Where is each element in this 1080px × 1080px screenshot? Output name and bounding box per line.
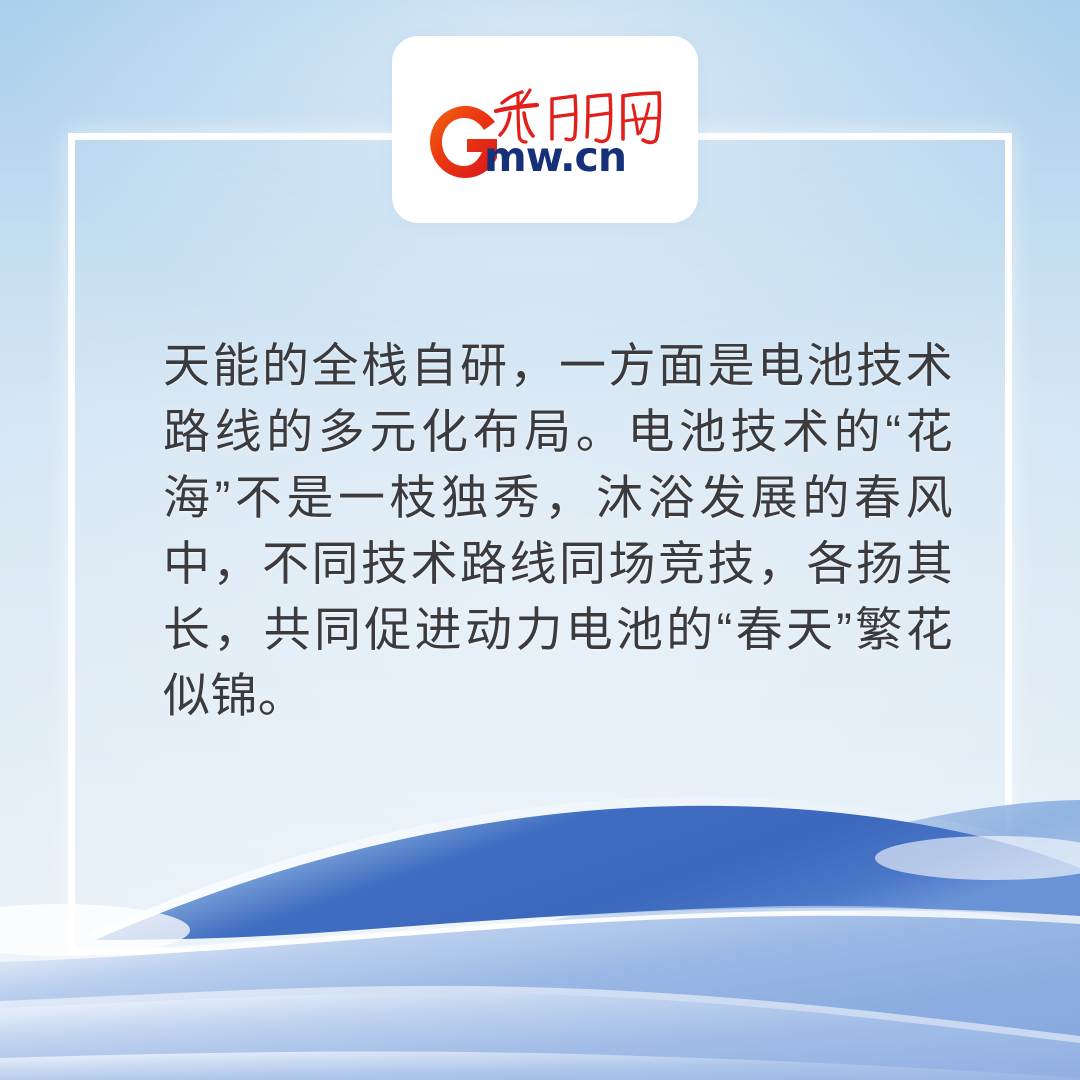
brand-logo-card[interactable]: mw.cn <box>392 36 698 223</box>
wave-deep-highlight <box>92 797 1080 940</box>
wave-front-highlight <box>0 986 1080 1043</box>
wave-layer-foreground <box>0 1052 1080 1080</box>
wave-right-glow <box>875 836 1080 880</box>
wave-layer-far <box>380 800 1080 944</box>
wave-left-glow <box>0 904 190 956</box>
poster-canvas: mw.cn 天能的全栈自研，一方面是电池技术路线的多元化布局。电池技术的“花海”… <box>0 0 1080 1080</box>
wave-edge-line <box>0 910 1080 964</box>
wave-decoration <box>0 740 1080 1080</box>
wave-layer-mid <box>0 916 1080 1080</box>
wave-layer-front <box>0 993 1080 1080</box>
wave-mid-highlight <box>0 908 1080 962</box>
brand-logo: mw.cn <box>429 87 661 179</box>
brand-domain-text: mw.cn <box>484 137 626 178</box>
main-paragraph: 天能的全栈自研，一方面是电池技术路线的多元化布局。电池技术的“花海”不是一枝独秀… <box>163 333 953 729</box>
wave-layer-deep <box>95 806 1080 940</box>
